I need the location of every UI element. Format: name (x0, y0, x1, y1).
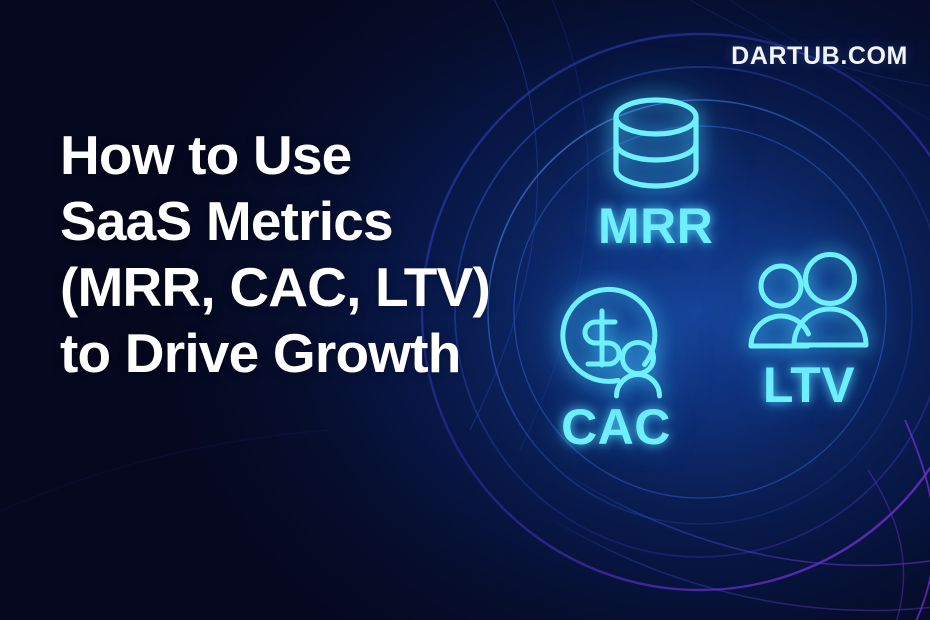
metric-ltv: LTV (746, 252, 872, 410)
two-people-icon (746, 252, 872, 358)
headline-line-4: to Drive Growth (60, 320, 530, 386)
banner-root: DARTUB.COM How to Use SaaS Metrics (MRR,… (0, 0, 930, 620)
dollar-circle-person-icon (552, 278, 680, 400)
headline-line-1: How to Use (60, 122, 530, 188)
streak-left-1 (0, 430, 330, 520)
headline-line-2: SaaS Metrics (60, 188, 530, 254)
metrics-cluster: MRR CAC (470, 60, 930, 560)
metric-mrr-label: MRR (598, 201, 713, 251)
metric-cac: CAC (552, 278, 680, 452)
headline-line-3: (MRR, CAC, LTV) (60, 254, 530, 320)
page-title: How to Use SaaS Metrics (MRR, CAC, LTV) … (60, 122, 530, 386)
metric-cac-label: CAC (561, 402, 671, 452)
metric-mrr: MRR (598, 93, 713, 251)
database-stack-icon (600, 93, 712, 193)
metric-ltv-label: LTV (763, 360, 855, 410)
brand-watermark: DARTUB.COM (731, 42, 908, 71)
